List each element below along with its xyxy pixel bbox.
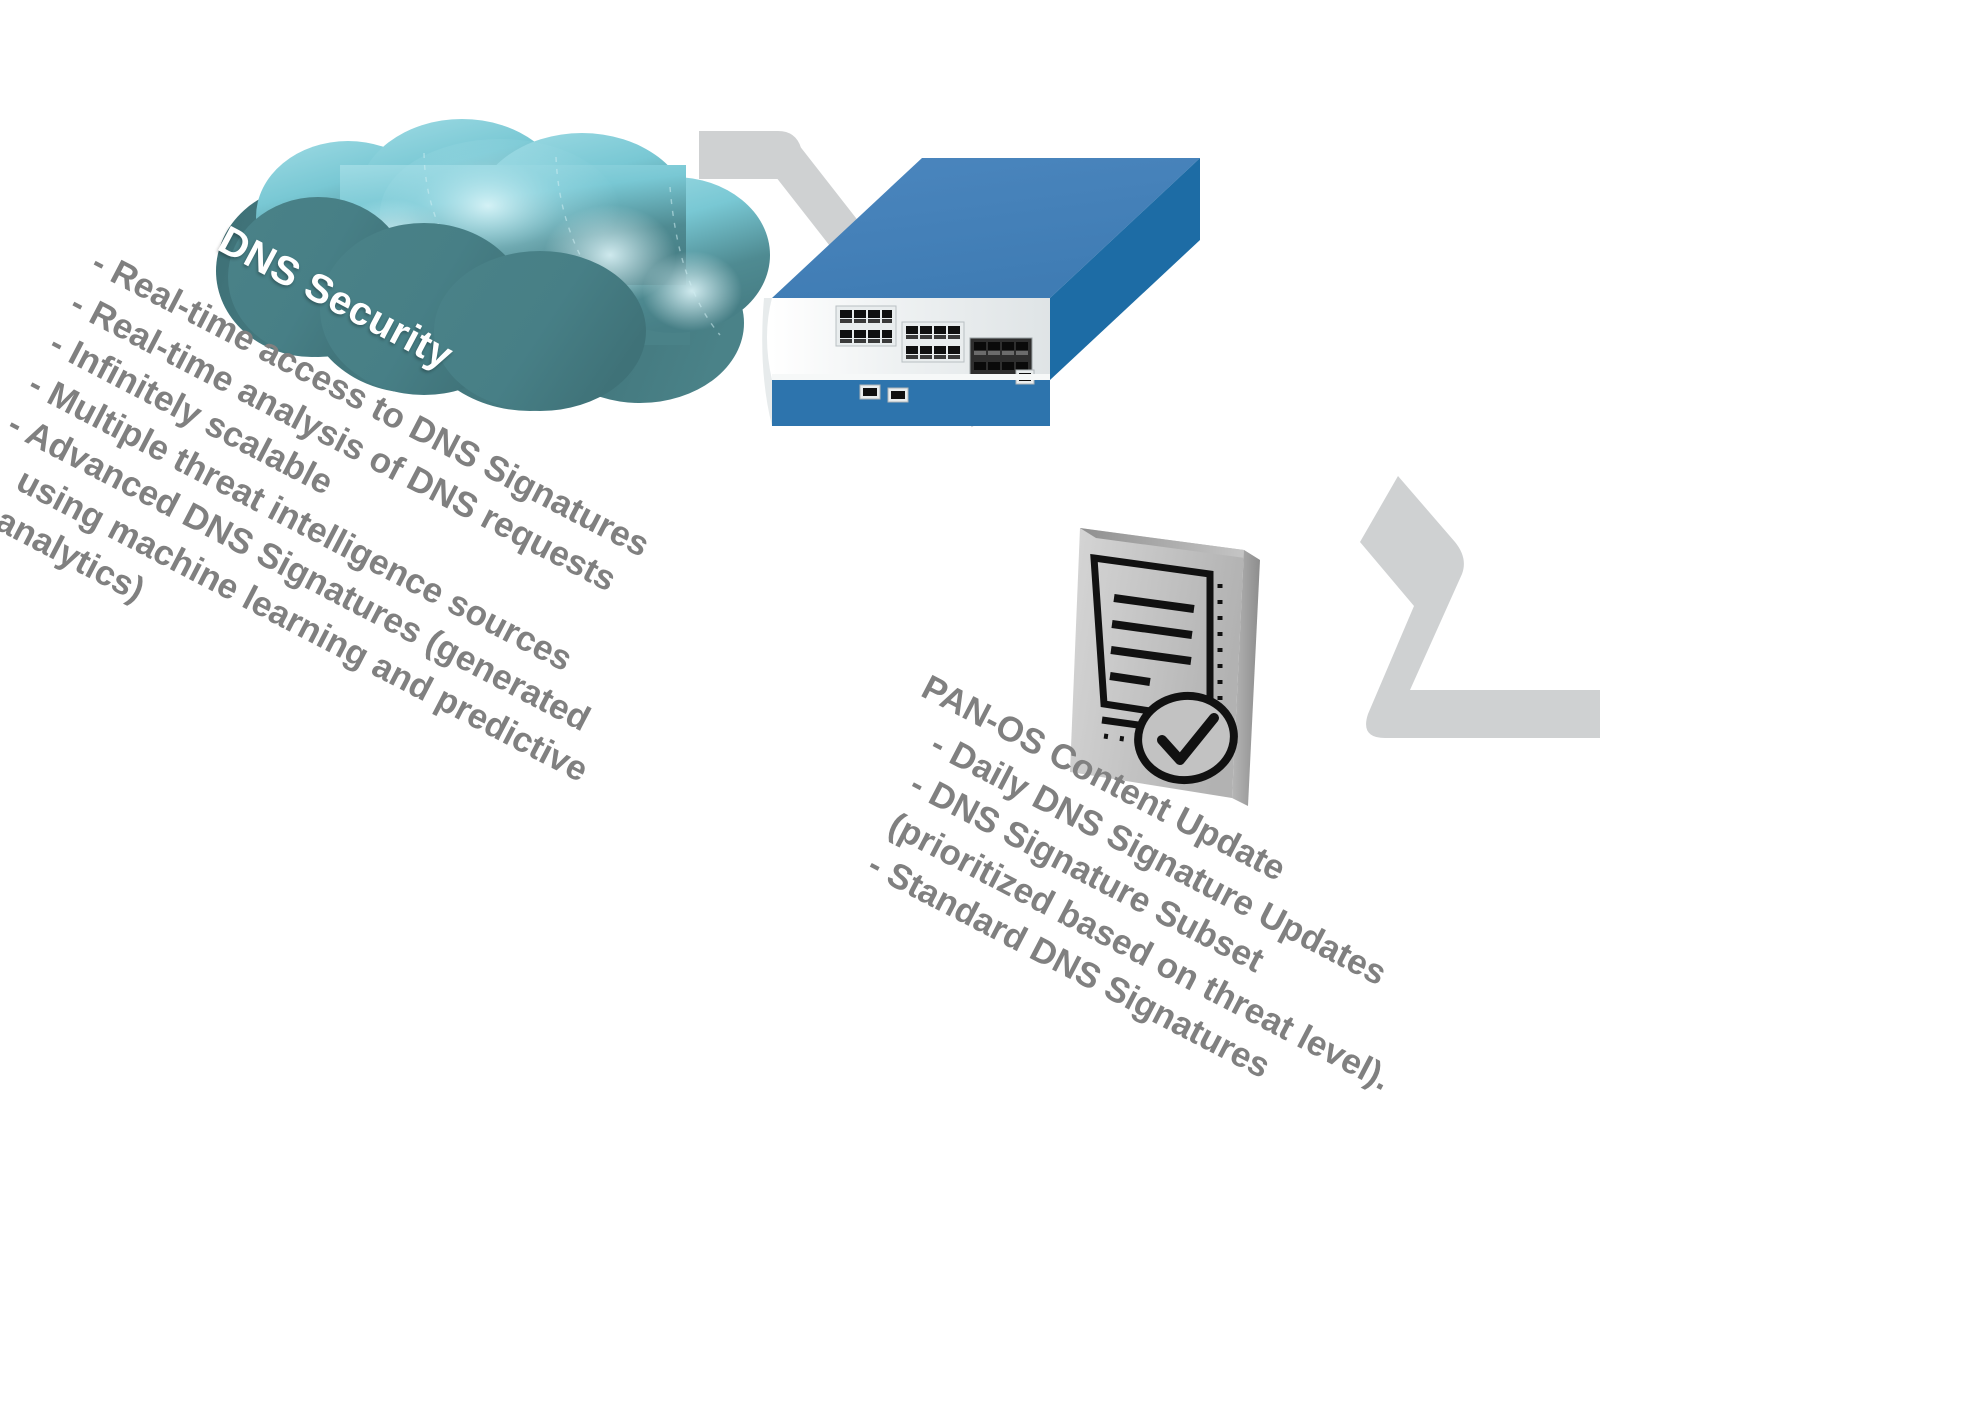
diagram-canvas: DNS Security <box>0 0 1972 1408</box>
firewall-port-cluster-1 <box>836 306 896 346</box>
firewall-port-cluster-2 <box>902 322 964 362</box>
firewall-appliance[interactable] <box>740 130 1240 480</box>
firewall-trim <box>772 374 1050 380</box>
firewall-front-skirt <box>772 378 1050 426</box>
firewall-left-edge <box>762 298 772 426</box>
connector-stub <box>1520 690 1600 738</box>
cloud-highlight-4 <box>642 251 742 331</box>
firewall-shape <box>740 130 1240 480</box>
